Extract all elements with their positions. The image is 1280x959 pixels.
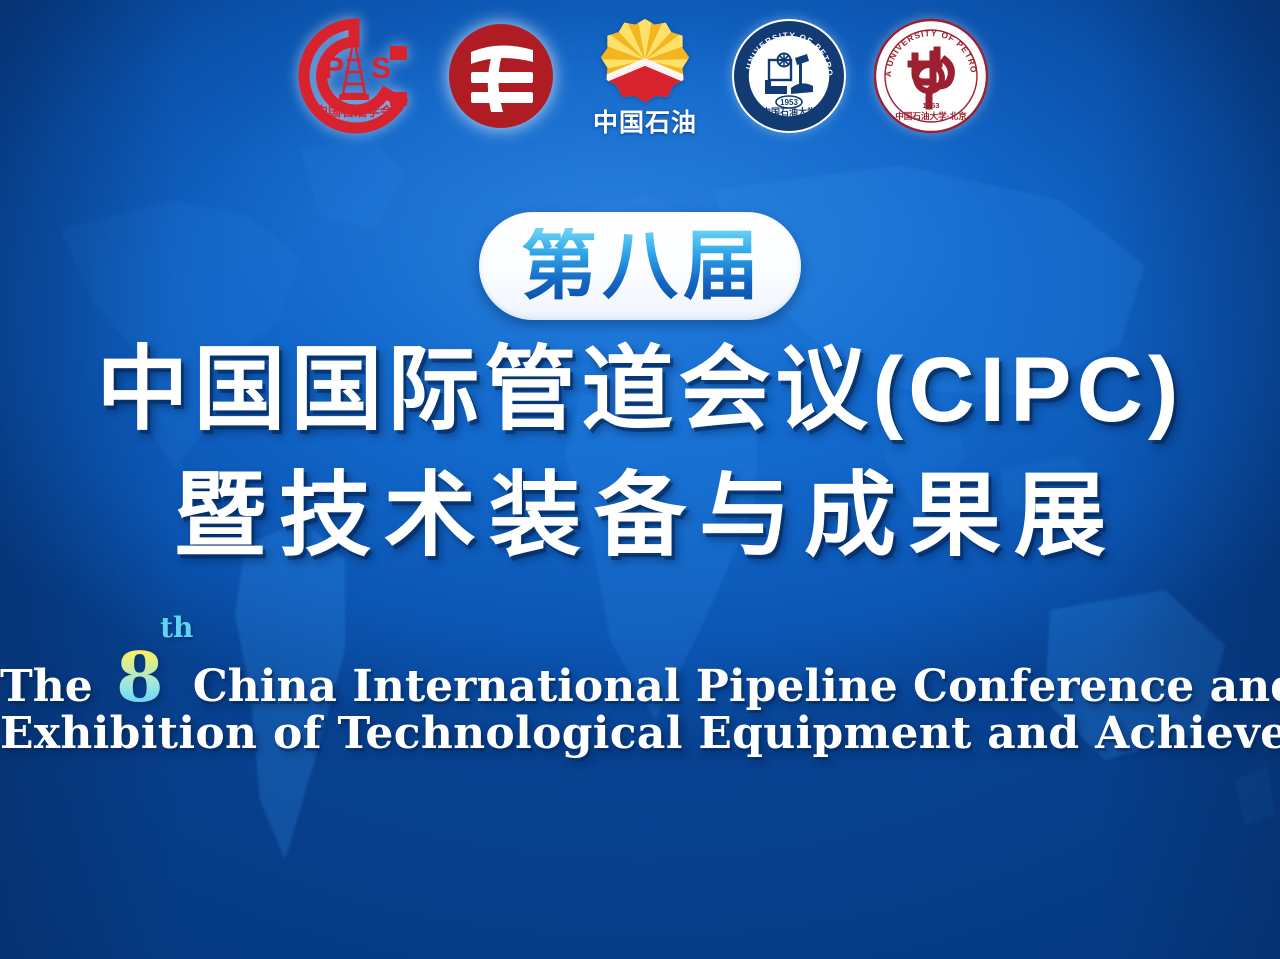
svg-text:1953: 1953 bbox=[780, 98, 798, 107]
edition-badge-label: 第八届 bbox=[516, 228, 764, 304]
edition-badge: 第八届 bbox=[479, 212, 801, 320]
svg-text:P: P bbox=[324, 52, 344, 85]
china-university-petroleum-beijing-seal: CHINA UNIVERSITY OF PETROLEUM 1953 中国石油大… bbox=[871, 16, 991, 136]
conference-banner: P S 中国石油学会 bbox=[0, 0, 1280, 959]
edition-ordinal-number: 8 bbox=[116, 638, 163, 718]
title-chinese-line2: 暨技术装备与成果展 bbox=[0, 470, 1280, 562]
svg-text:S: S bbox=[371, 52, 391, 85]
edition-badge-wrapper: 第八届 bbox=[0, 212, 1280, 320]
china-university-petroleum-navy-seal: CHINA UNIVERSITY OF PETROLEUM 1953 中国石油大… bbox=[729, 16, 849, 136]
petrochina-sunburst-icon bbox=[598, 16, 692, 110]
cnpc-emblem-logo bbox=[441, 16, 561, 136]
chinese-petroleum-society-logo: P S 中国石油学会 bbox=[289, 16, 419, 136]
svg-text:中国石油学会: 中国石油学会 bbox=[315, 104, 394, 119]
title-chinese-line1: 中国国际管道会议(CIPC) bbox=[0, 344, 1280, 436]
title-english-line1: The 8th China International Pipeline Con… bbox=[0, 644, 1280, 712]
edition-ordinal: 8th bbox=[116, 644, 163, 712]
title-english-prefix: The bbox=[0, 661, 93, 712]
sponsor-logo-strip: P S 中国石油学会 bbox=[0, 16, 1280, 144]
edition-ordinal-suffix: th bbox=[160, 614, 193, 642]
petrochina-wordmark: 中国石油 bbox=[593, 111, 697, 136]
title-english-line1-rest: China International Pipeline Conference … bbox=[193, 661, 1280, 712]
title-english-line2: Exhibition of Technological Equipment an… bbox=[0, 712, 1280, 756]
svg-text:中国石油大学: 中国石油大学 bbox=[762, 106, 816, 117]
petrochina-logo: 中国石油 bbox=[583, 16, 707, 142]
svg-text:1953: 1953 bbox=[923, 101, 940, 110]
svg-text:中国石油大学·北京: 中国石油大学·北京 bbox=[895, 110, 967, 121]
